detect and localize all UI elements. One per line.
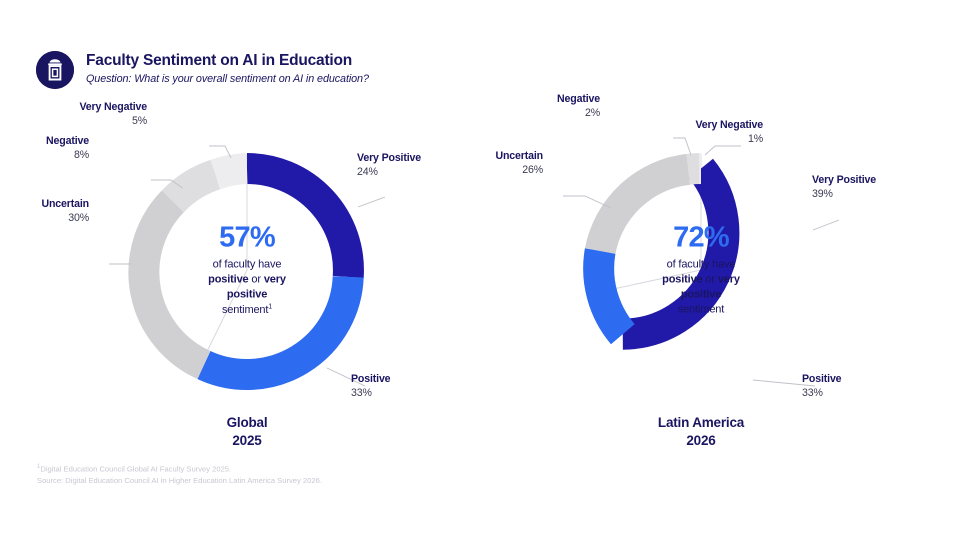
page-title: Faculty Sentiment on AI in Education <box>86 51 369 70</box>
donut-segment-negative <box>688 169 701 170</box>
chart-header: Faculty Sentiment on AI in Education Que… <box>36 50 369 89</box>
donut-segment-uncertain <box>600 169 688 251</box>
label-very-negative: Very Negative 5% <box>22 101 147 128</box>
leader-line-very-negative <box>705 146 741 155</box>
donut-chart-global: 57% of faculty have positive or very pos… <box>109 132 385 408</box>
panel-title-global: Global 2025 <box>22 414 472 449</box>
label-positive: Positive 33% <box>351 373 390 400</box>
panel-title-region: Global <box>22 414 472 432</box>
footnote-line-1-text: Digital Education Council Global AI Facu… <box>40 465 231 474</box>
donut-segment-uncertain <box>144 201 204 365</box>
leader-line-very-positive <box>358 197 385 207</box>
label-negative: Negative 2% <box>476 93 600 120</box>
footnote: 1Digital Education Council Global AI Fac… <box>37 463 322 487</box>
label-very-negative: Very Negative 1% <box>648 119 763 146</box>
chart-panel-latin-america: 72% of faculty have positive or very pos… <box>476 96 926 456</box>
label-uncertain: Uncertain 30% <box>17 198 89 225</box>
panel-title-year: 2026 <box>476 432 926 450</box>
donut-segment-very-positive <box>247 169 348 277</box>
donut-segment-very-negative <box>216 169 247 175</box>
leader-line-very-positive <box>813 220 839 230</box>
panel-title-year: 2025 <box>22 432 472 450</box>
label-very-positive: Very Positive 39% <box>812 174 876 201</box>
page-subtitle: Question: What is your overall sentiment… <box>86 73 369 85</box>
footnote-line-2: Source: Digital Education Council AI in … <box>37 475 322 487</box>
donut-segment-positive <box>204 277 348 375</box>
panel-title-region: Latin America <box>476 414 926 432</box>
donut-segment-positive <box>599 251 623 334</box>
podium-logo-icon <box>36 51 74 89</box>
label-negative: Negative 8% <box>22 135 89 162</box>
label-uncertain: Uncertain 26% <box>471 150 543 177</box>
footnote-line-1: 1Digital Education Council Global AI Fac… <box>37 463 322 475</box>
label-very-positive: Very Positive 24% <box>357 152 421 179</box>
panel-title-latin-america: Latin America 2026 <box>476 414 926 449</box>
label-positive: Positive 33% <box>802 373 841 400</box>
donut-segment-negative <box>173 175 216 202</box>
chart-panel-global: 57% of faculty have positive or very pos… <box>22 96 472 456</box>
donut-chart-latin-america: 72% of faculty have positive or very pos… <box>563 132 839 408</box>
